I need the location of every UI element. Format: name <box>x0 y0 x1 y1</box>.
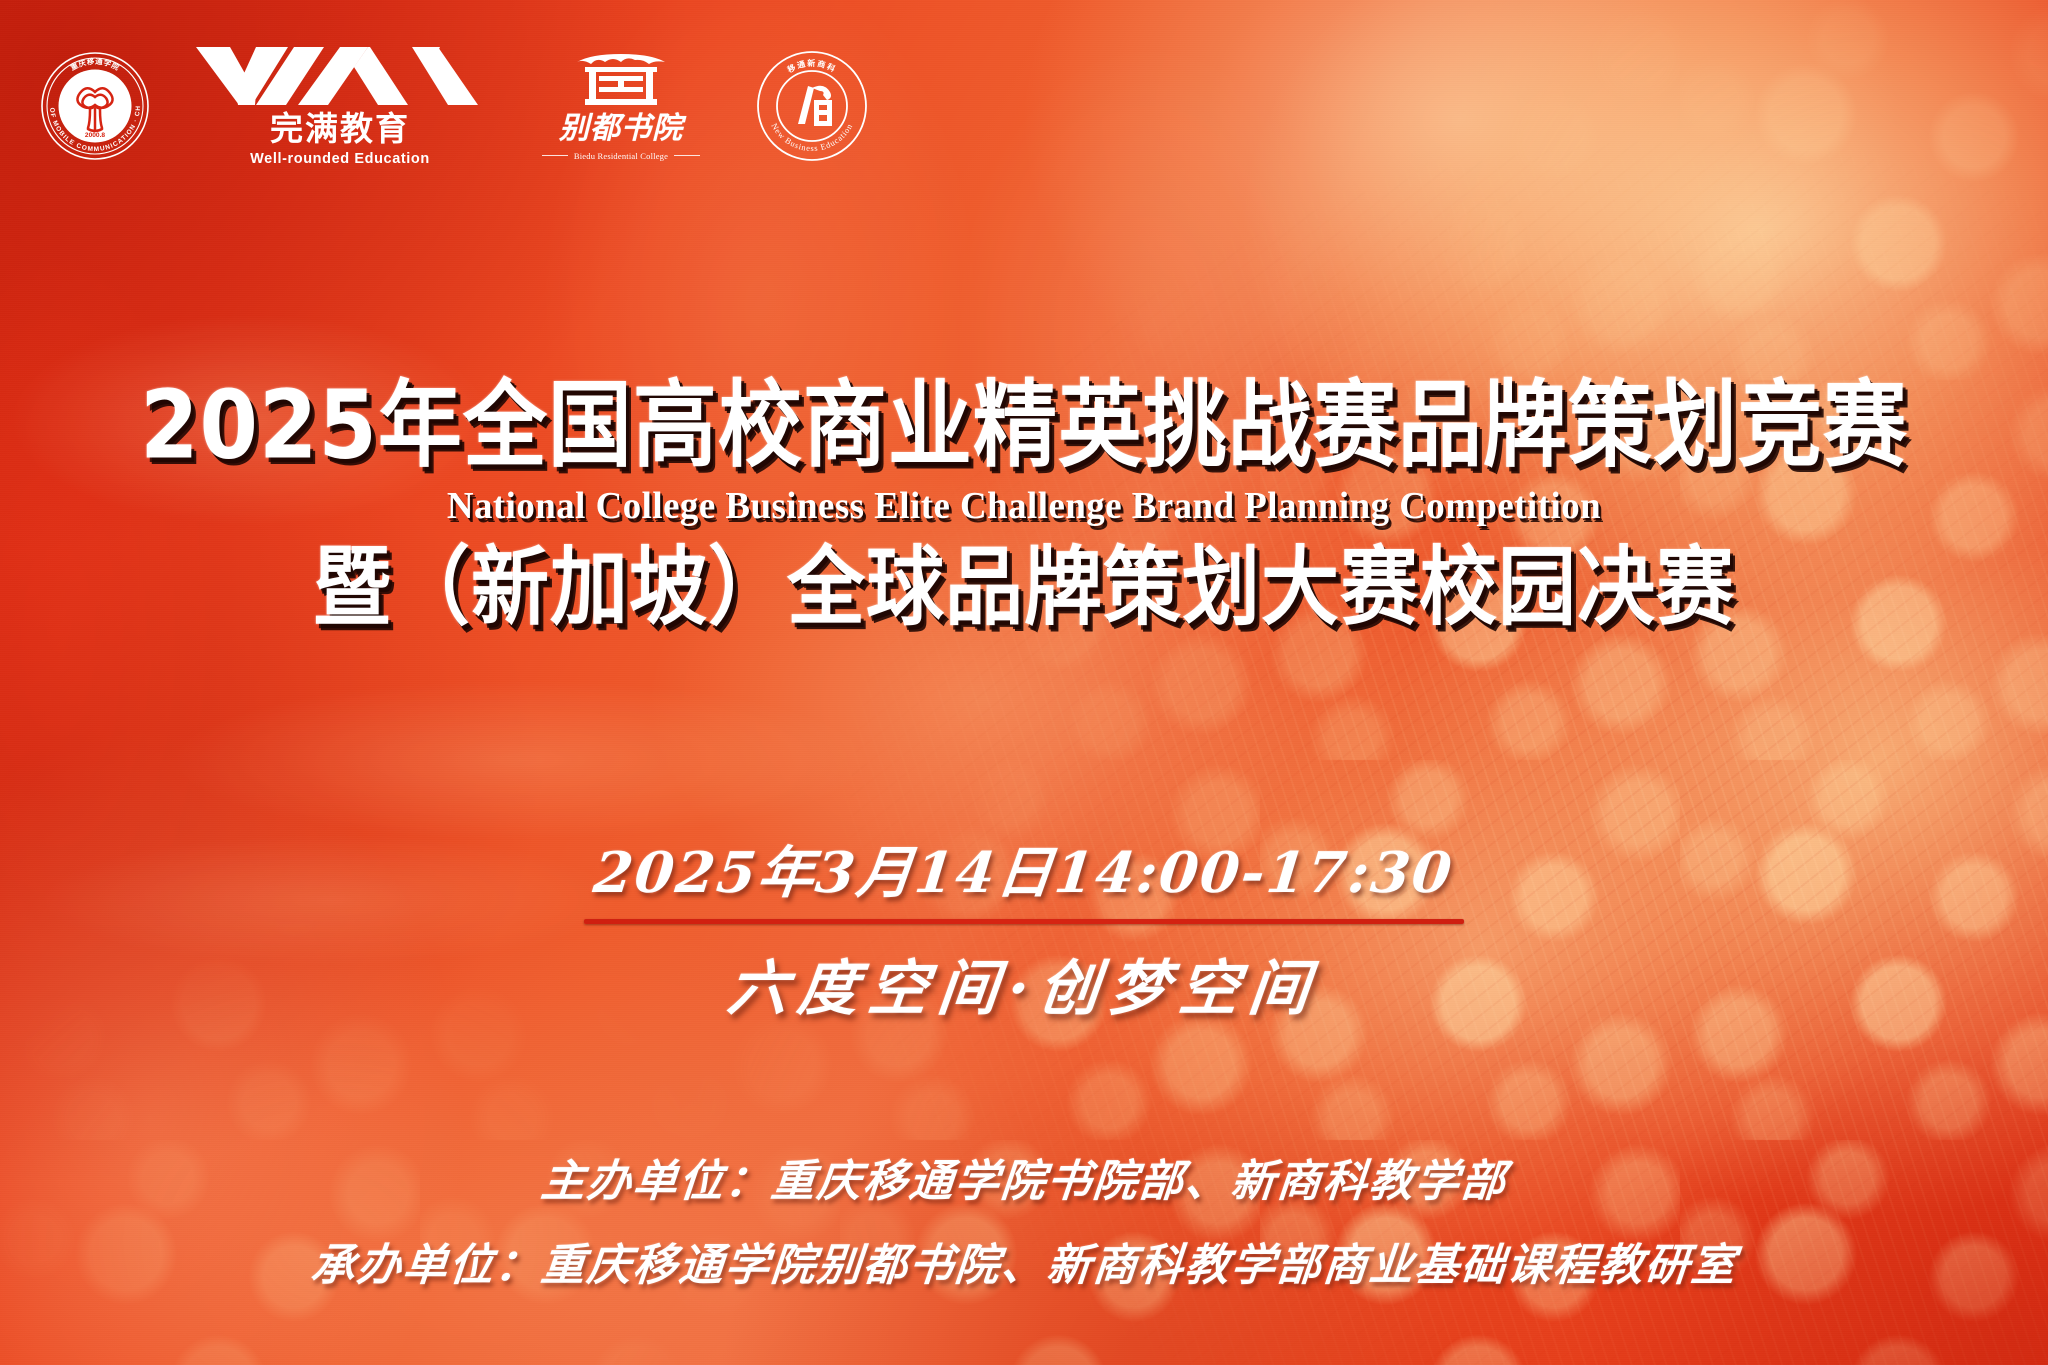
academy-rule-left <box>542 155 568 156</box>
organizer-unit-line: 承办单位：重庆移通学院别都书院、新商科教学部商业基础课程教研室 <box>0 1224 2048 1308</box>
via-mark-icon <box>190 45 490 107</box>
event-datetime: 2025年3月14日14:00-17:30 <box>584 828 1465 919</box>
academy-logo-en-label: Biedu Residential College <box>542 151 700 161</box>
page-title-cn-line1: 2025年全国高校商业精英挑战赛品牌策划竞赛 <box>0 377 2048 475</box>
new-business-education-logo: 移通新商科 New Business Education <box>756 50 868 162</box>
event-venue: 六度空间·创梦空间 <box>0 940 2048 1027</box>
new-business-education-seal-icon: 移通新商科 New Business Education <box>756 50 868 162</box>
host-unit-line: 主办单位：重庆移通学院书院部、新商科教学部 <box>0 1140 2048 1224</box>
via-logo-en-label: Well-rounded Education <box>250 151 430 167</box>
svg-text:2000.8: 2000.8 <box>85 132 106 139</box>
university-seal-logo: 2000.8 重庆移通学院 COLLEGE OF MOBILE COMMUNIC… <box>40 51 150 161</box>
chongqing-college-seal-icon: 2000.8 重庆移通学院 COLLEGE OF MOBILE COMMUNIC… <box>40 51 150 161</box>
logo-bar: 2000.8 重庆移通学院 COLLEGE OF MOBILE COMMUNIC… <box>40 46 868 166</box>
biedu-academy-logo: 别都书院 Biedu Residential College <box>526 52 716 161</box>
academy-gate-icon <box>561 52 681 108</box>
academy-en-text: Biedu Residential College <box>574 151 668 161</box>
academy-logo-cn-label: 别都书院 <box>559 114 683 144</box>
page-title-en: National College Business Elite Challeng… <box>31 484 2018 528</box>
svg-text:移通新商科: 移通新商科 <box>786 58 839 75</box>
academy-rule-right <box>674 155 700 156</box>
event-datetime-block: 2025年3月14日14:00-17:30 六度空间·创梦空间 <box>0 828 2048 1027</box>
datetime-underline-rule <box>584 919 1464 924</box>
via-logo-cn-label: 完满教育 <box>270 112 410 145</box>
event-poster: 2000.8 重庆移通学院 COLLEGE OF MOBILE COMMUNIC… <box>0 0 2048 1365</box>
organizers-block: 主办单位：重庆移通学院书院部、新商科教学部 承办单位：重庆移通学院别都书院、新商… <box>0 1140 2048 1307</box>
svg-text:New Business Education: New Business Education <box>769 122 854 153</box>
via-logo: 完满教育 Well-rounded Education <box>190 45 490 167</box>
page-title-cn-line2: 暨（新加坡）全球品牌策划大赛校园决赛 <box>0 544 2048 634</box>
